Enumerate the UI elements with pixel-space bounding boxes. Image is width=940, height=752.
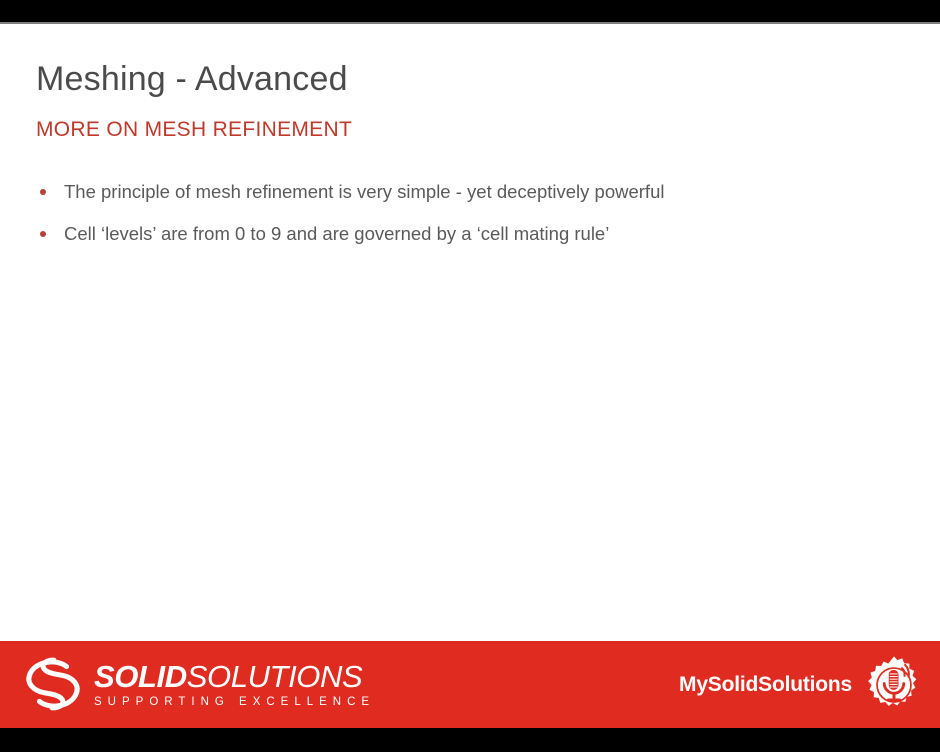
slide-content-area: Meshing - Advanced MORE ON MESH REFINEME…: [0, 24, 940, 641]
bullet-text: Cell ‘levels’ are from 0 to 9 and are go…: [64, 223, 609, 244]
gear-microphone-icon: [864, 655, 924, 715]
brand-wordmark-strong: SOLID: [94, 659, 187, 694]
bullet-item: Cell ‘levels’ are from 0 to 9 and are go…: [36, 222, 916, 247]
footer-top-hairline: [0, 641, 940, 644]
brand-lockup: SOLIDSOLUTIONS SUPPORTING EXCELLENCE: [22, 653, 375, 715]
brand-wordmark: SOLIDSOLUTIONS: [94, 661, 375, 692]
podcast-label: MySolidSolutions: [679, 673, 852, 697]
footer-band: SOLIDSOLUTIONS SUPPORTING EXCELLENCE MyS…: [0, 641, 940, 728]
bullet-list: The principle of mesh refinement is very…: [36, 180, 916, 264]
podcast-lockup: MySolidSolutions: [679, 655, 924, 715]
brand-wordmark-light: SOLUTIONS: [187, 659, 363, 694]
bullet-item: The principle of mesh refinement is very…: [36, 180, 916, 205]
brand-tagline: SUPPORTING EXCELLENCE: [94, 696, 375, 708]
slide-subtitle: MORE ON MESH REFINEMENT: [36, 118, 352, 142]
bullet-text: The principle of mesh refinement is very…: [64, 181, 664, 202]
presentation-slide: Meshing - Advanced MORE ON MESH REFINEME…: [0, 0, 940, 752]
brand-words: SOLIDSOLUTIONS SUPPORTING EXCELLENCE: [94, 661, 375, 708]
bullet-dot-icon: [40, 189, 46, 195]
letterbox-bar-bottom: [0, 728, 940, 752]
letterbox-bar-top: [0, 0, 940, 22]
slide-title: Meshing - Advanced: [36, 60, 348, 99]
bullet-dot-icon: [40, 231, 46, 237]
solid-solutions-swoosh-icon: [22, 653, 84, 715]
